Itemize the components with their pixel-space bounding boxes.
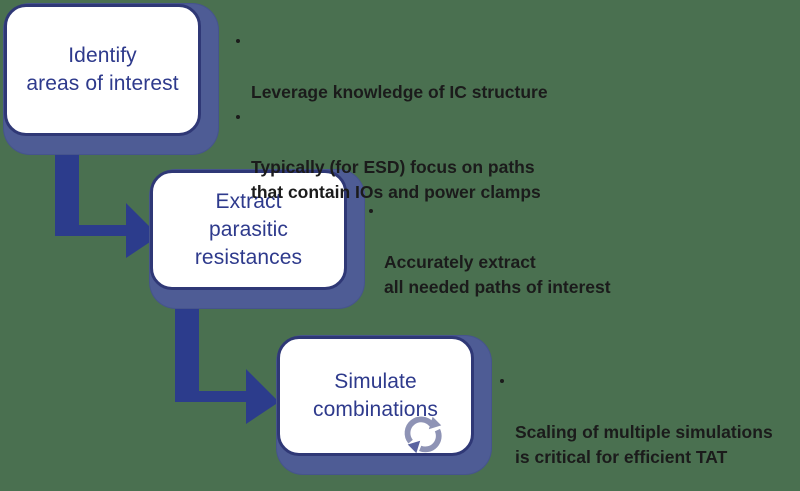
- process-node-simulate[interactable]: Simulate combinations: [277, 336, 491, 474]
- list-item-text: Leverage knowledge of IC structure: [251, 82, 548, 102]
- node-plate: Identify areas of interest: [4, 4, 201, 136]
- connector-extract-to-simulate: [168, 296, 280, 424]
- bullet-dot-icon: [236, 39, 240, 43]
- bullet-list-extract: Accurately extract all needed paths of i…: [367, 200, 697, 300]
- process-node-label: Simulate combinations: [305, 368, 446, 423]
- diagram-canvas: Identify areas of interest Extract paras…: [0, 0, 800, 491]
- elbow-arrow-down-right-icon: [175, 296, 279, 424]
- bullet-dot-icon: [236, 115, 240, 119]
- list-item: Typically (for ESD) focus on paths that …: [234, 106, 634, 205]
- process-node-label: Identify areas of interest: [18, 42, 186, 97]
- list-item-text: Typically (for ESD) focus on paths that …: [251, 157, 541, 202]
- list-item: Accurately extract all needed paths of i…: [367, 200, 697, 299]
- node-plate: Simulate combinations: [277, 336, 474, 456]
- bullet-dot-icon: [500, 379, 504, 383]
- list-item-text: Accurately extract all needed paths of i…: [384, 252, 611, 297]
- list-item: Scaling of multiple simulations is criti…: [498, 370, 798, 469]
- bullet-list-simulate: Scaling of multiple simulations is criti…: [498, 370, 798, 470]
- bullet-list-identify: Leverage knowledge of IC structure Typic…: [234, 30, 634, 206]
- list-item: Leverage knowledge of IC structure: [234, 30, 634, 105]
- list-item-text: Scaling of multiple simulations is criti…: [515, 422, 773, 467]
- bullet-dot-icon: [369, 209, 373, 213]
- process-node-identify[interactable]: Identify areas of interest: [4, 4, 218, 154]
